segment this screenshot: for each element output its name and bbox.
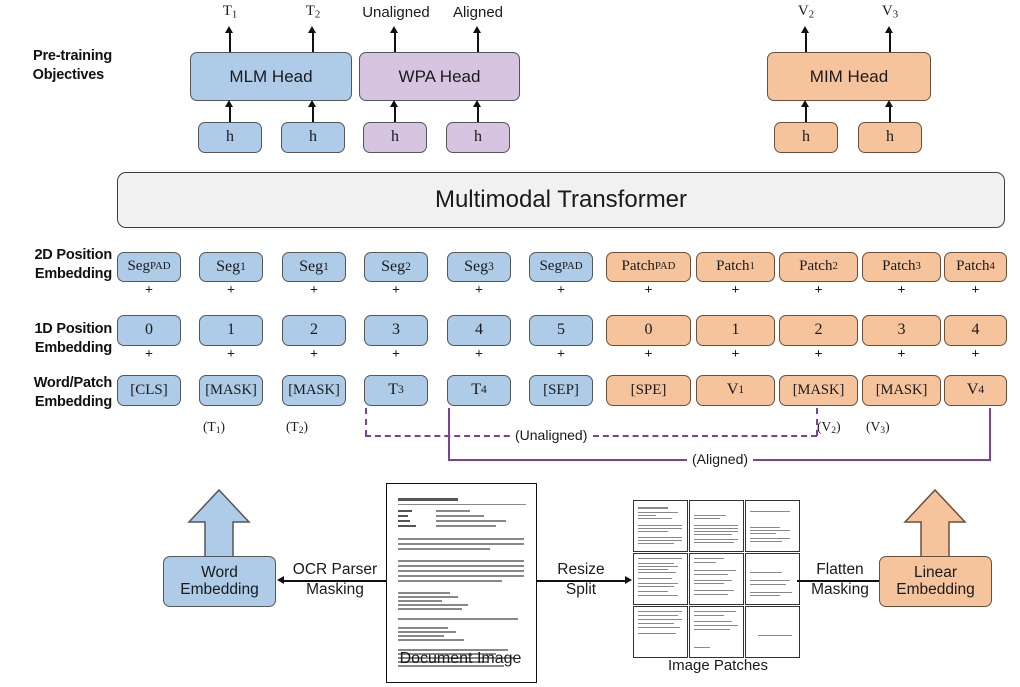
masked-target-t2: (T2): [255, 419, 339, 436]
patch-text-line: [638, 512, 678, 513]
multimodal-transformer-box[interactable]: Multimodal Transformer: [117, 172, 1005, 228]
embedding-cell-pos2d-7[interactable]: Patch1: [696, 252, 775, 282]
embedding-cell-pos1d-5[interactable]: 5: [529, 315, 593, 346]
embedding-cell-text: [CLS]: [130, 383, 168, 399]
embedding-cell-text: Seg: [216, 259, 240, 276]
mlm-head-box[interactable]: MLM Head: [190, 52, 352, 101]
unaligned-label-text: (Unaligned): [515, 427, 587, 443]
aligned-label-text: (Aligned): [692, 451, 748, 467]
patch-text-line: [750, 572, 782, 573]
embedding-cell-pos2d-9[interactable]: Patch3: [862, 252, 941, 282]
patch-text-line: [694, 518, 720, 519]
embedding-cell-subscript: 4: [978, 384, 984, 396]
ocr-line1: OCR Parser: [293, 561, 377, 578]
embedding-cell-subscript: 2: [405, 261, 411, 273]
patch-text-line: [638, 528, 682, 529]
embedding-cell-pos2d-10[interactable]: Patch4: [944, 252, 1007, 282]
patch-text-line: [750, 580, 790, 581]
patch-text-line: [638, 525, 682, 526]
patch-text-line: [694, 629, 730, 630]
patch-text-line: [638, 531, 668, 532]
ocr-line2: Masking: [306, 581, 364, 598]
embedding-cell-pos2d-0[interactable]: SegPAD: [117, 252, 181, 282]
image-patch-8[interactable]: [689, 606, 744, 658]
embedding-cell-subscript: 3: [915, 261, 920, 272]
embedding-cell-text: [MASK]: [876, 383, 928, 398]
hidden-state-label-4: h: [474, 129, 482, 146]
resize-line1: Resize: [557, 561, 604, 578]
embedding-cell-text: 4: [475, 322, 483, 339]
patch-text-line: [638, 540, 682, 541]
output-label-aligned: Aligned: [442, 4, 514, 21]
embedding-cell-subscript: 3: [398, 384, 404, 396]
embedding-cell-pos1d-6[interactable]: 0: [606, 315, 691, 346]
embedding-cell-pos2d-1[interactable]: Seg1: [199, 252, 263, 282]
label-word-patch-line2: Embedding: [0, 393, 112, 412]
output-t1-sub: 1: [232, 8, 237, 20]
document-image-caption-text: Document Image: [400, 650, 522, 667]
patch-text-line: [638, 507, 668, 509]
embedding-cell-text: [SPE]: [631, 383, 667, 399]
plus-symbol-pos2d-3: +: [364, 283, 428, 299]
output-v2-sub: 2: [809, 8, 814, 20]
embedding-cell-subscript: PAD: [150, 261, 171, 272]
patch-text-line: [638, 583, 678, 584]
embedding-cell-text: Seg: [127, 259, 150, 275]
embedding-cell-text: 1: [227, 322, 235, 339]
embedding-cell-pos2d-3[interactable]: Seg2: [364, 252, 428, 282]
image-patch-3[interactable]: [745, 500, 800, 552]
masked-target-v3-close: ): [885, 419, 890, 434]
patch-text-line: [694, 590, 734, 591]
patch-text-line: [638, 558, 682, 559]
patch-text-line: [638, 591, 668, 592]
patch-text-line: [694, 539, 738, 540]
plus-symbol-pos1d-4: +: [447, 347, 511, 363]
label-pretraining-objectives-line2: Objectives: [0, 66, 112, 85]
hidden-state-box-5[interactable]: h: [774, 122, 838, 153]
patch-text-line: [638, 611, 682, 612]
mim-head-label: MIM Head: [810, 68, 888, 86]
patch-text-line: [638, 586, 674, 587]
plus-symbol-pos2d-2: +: [282, 283, 346, 299]
patch-text-line: [694, 531, 738, 532]
output-v2-text: V: [798, 3, 809, 19]
output-label-unaligned: Unaligned: [352, 4, 440, 21]
embedding-cell-subscript: 1: [749, 261, 754, 272]
embedding-cell-wordpatch-2[interactable]: [MASK]: [282, 375, 346, 406]
plus-symbol-pos2d-0: +: [117, 283, 181, 299]
embedding-cell-pos2d-8[interactable]: Patch2: [779, 252, 858, 282]
embedding-cell-text: [MASK]: [288, 383, 340, 398]
patch-text-line: [638, 566, 678, 567]
arrowhead-head-to-v3: [885, 26, 893, 33]
label-1d-position-line1: 1D Position: [0, 320, 112, 339]
hidden-state-box-6[interactable]: h: [858, 122, 922, 153]
embedding-cell-subscript: PAD: [655, 261, 676, 272]
plus-symbol-pos2d-7: +: [696, 283, 775, 299]
plus-symbol-pos1d-6: +: [606, 347, 691, 363]
mim-head-box[interactable]: MIM Head: [767, 52, 931, 101]
word-embedding-line2: Embedding: [180, 582, 258, 598]
plus-symbol-pos2d-6: +: [606, 283, 691, 299]
arrowhead-head-to-unaligned: [390, 26, 398, 33]
label-2d-position-embedding: 2D Position Embedding: [0, 246, 112, 283]
arrowhead-head-to-aligned: [473, 26, 481, 33]
patch-text-line: [638, 572, 676, 573]
output-label-t1: T1: [196, 3, 264, 20]
patch-text-line: [750, 595, 780, 596]
image-patch-4[interactable]: [633, 553, 688, 605]
patch-text-line: [750, 541, 782, 542]
embedding-cell-pos1d-9[interactable]: 3: [862, 315, 941, 346]
plus-symbol-pos1d-3: +: [364, 347, 428, 363]
patch-text-line: [694, 515, 726, 516]
hidden-state-box-1[interactable]: h: [198, 122, 262, 153]
patch-text-line: [694, 570, 736, 571]
patch-text-line: [694, 528, 738, 529]
image-patch-7[interactable]: [633, 606, 688, 658]
patch-text-line: [694, 615, 724, 616]
output-label-v2: V2: [772, 3, 840, 20]
hidden-state-label-2: h: [309, 129, 317, 146]
output-t2-sub: 2: [315, 8, 320, 20]
embedding-cell-pos1d-1[interactable]: 1: [199, 315, 263, 346]
embedding-cell-text: Patch: [799, 259, 832, 275]
embedding-cell-pos2d-6[interactable]: PatchPAD: [606, 252, 691, 282]
plus-symbol-pos1d-0: +: [117, 347, 181, 363]
output-unaligned-text: Unaligned: [362, 4, 430, 21]
embedding-cell-text: Seg: [299, 259, 323, 276]
plus-symbol-pos2d-10: +: [944, 283, 1007, 299]
patch-text-line: [638, 615, 678, 616]
hidden-state-box-4[interactable]: h: [446, 122, 510, 153]
document-image-caption: Document Image: [386, 650, 535, 668]
embedding-cell-text: 3: [392, 322, 400, 339]
label-2d-position-line2: Embedding: [0, 265, 112, 284]
plus-symbol-pos2d-1: +: [199, 283, 263, 299]
embedding-cell-wordpatch-7[interactable]: V1: [696, 375, 775, 406]
embedding-cell-subscript: 1: [240, 261, 246, 273]
flatten-masking-label: Flatten Masking: [796, 560, 884, 600]
embedding-cell-text: 5: [557, 322, 565, 339]
linear-embedding-box[interactable]: Linear Embedding: [879, 556, 992, 607]
label-1d-position-line2: Embedding: [0, 339, 112, 358]
embedding-cell-subscript: 2: [832, 261, 837, 272]
output-label-v3: V3: [856, 3, 924, 20]
patch-text-line: [694, 534, 732, 535]
embedding-cell-text: T: [388, 382, 398, 399]
flatten-line1: Flatten: [816, 561, 863, 578]
aligned-connector-right-vertical: [989, 408, 991, 460]
unaligned-connector-right-vertical: [816, 408, 818, 436]
arrowhead-h2-to-mlm: [308, 100, 316, 107]
patch-text-line: [694, 647, 710, 648]
embedding-cell-subscript: 3: [488, 261, 494, 273]
masked-target-t1-close: ): [221, 419, 226, 434]
embedding-cell-subscript: 4: [989, 261, 994, 272]
embedding-cell-text: Patch: [716, 259, 749, 275]
patch-text-line: [750, 530, 790, 531]
plus-symbol-pos2d-4: +: [447, 283, 511, 299]
masked-target-t1: (T1): [172, 419, 256, 436]
embedding-cell-wordpatch-8[interactable]: [MASK]: [779, 375, 858, 406]
linear-embedding-line1: Linear: [914, 565, 957, 581]
embedding-cell-text: [MASK]: [205, 383, 257, 398]
patch-text-line: [694, 594, 728, 595]
patch-text-line: [638, 543, 674, 544]
patch-text-line: [694, 580, 732, 581]
patch-text-line: [758, 635, 792, 636]
masked-target-v3-text: (V: [866, 419, 880, 434]
embedding-cell-text: 1: [732, 322, 740, 339]
image-patch-6[interactable]: [745, 553, 800, 605]
embedding-cell-pos2d-2[interactable]: Seg1: [282, 252, 346, 282]
embedding-cell-text: Patch: [622, 259, 655, 275]
patch-text-line: [694, 525, 738, 526]
image-patch-5[interactable]: [689, 553, 744, 605]
embedding-cell-wordpatch-0[interactable]: [CLS]: [117, 375, 181, 406]
plus-symbol-pos1d-7: +: [696, 347, 775, 363]
patch-text-line: [750, 511, 790, 512]
patch-text-line: [638, 537, 682, 538]
embedding-cell-wordpatch-3[interactable]: T3: [364, 375, 428, 406]
embedding-cell-pos2d-5[interactable]: SegPAD: [529, 252, 593, 282]
embedding-cell-text: 4: [972, 322, 980, 339]
embedding-cell-pos1d-0[interactable]: 0: [117, 315, 181, 346]
plus-symbol-pos1d-5: +: [529, 347, 593, 363]
patch-text-line: [638, 633, 676, 634]
embedding-cell-text: V: [967, 382, 979, 399]
output-v3-sub: 3: [893, 8, 898, 20]
embedding-cell-pos1d-7[interactable]: 1: [696, 315, 775, 346]
embedding-cell-text: Seg: [539, 259, 562, 275]
patch-text-line: [638, 595, 678, 596]
embedding-cell-subscript: PAD: [562, 261, 583, 272]
output-t2-text: T: [306, 3, 315, 19]
arrowhead-head-to-t1: [225, 26, 233, 33]
wpa-head-box[interactable]: WPA Head: [359, 52, 520, 101]
embedding-cell-text: [SEP]: [543, 383, 579, 399]
plus-symbol-pos1d-2: +: [282, 347, 346, 363]
arrowhead-h5-to-mim: [801, 100, 809, 107]
hidden-state-label-5: h: [802, 129, 810, 146]
patch-text-line: [694, 611, 736, 612]
embedding-cell-text: [MASK]: [793, 383, 845, 398]
label-word-patch-embedding: Word/Patch Embedding: [0, 374, 112, 411]
arrowhead-h4-to-wpa: [473, 100, 481, 107]
patch-text-line: [750, 584, 786, 585]
unaligned-connector-left-vertical: [365, 408, 367, 436]
word-embedding-box[interactable]: Word Embedding: [163, 556, 276, 607]
masked-target-t1-text: (T: [203, 419, 216, 434]
patch-text-line: [694, 625, 738, 626]
embedding-cell-text: V: [727, 382, 739, 399]
patch-text-line: [638, 623, 674, 624]
embedding-cell-subscript: 4: [481, 384, 487, 396]
arrowhead-h3-to-wpa: [390, 100, 398, 107]
hidden-state-label-1: h: [226, 129, 234, 146]
embedding-cell-wordpatch-4[interactable]: T4: [447, 375, 511, 406]
embedding-cell-text: 3: [898, 322, 906, 339]
masked-target-v2-close: ): [836, 419, 841, 434]
plus-symbol-pos2d-9: +: [862, 283, 941, 299]
embedding-cell-text: Seg: [464, 259, 488, 276]
patch-text-line: [750, 592, 792, 593]
embedding-cell-wordpatch-5[interactable]: [SEP]: [529, 375, 593, 406]
wpa-head-label: WPA Head: [399, 68, 481, 86]
hidden-state-box-2[interactable]: h: [281, 122, 345, 153]
resize-line2: Split: [566, 581, 596, 598]
patch-text-line: [694, 583, 724, 584]
hidden-state-label-6: h: [886, 129, 894, 146]
output-t1-text: T: [223, 3, 232, 19]
plus-symbol-pos1d-10: +: [944, 347, 1007, 363]
patch-text-line: [750, 527, 780, 528]
patch-text-line: [638, 619, 682, 620]
embedding-cell-text: 0: [645, 322, 653, 339]
mlm-head-label: MLM Head: [229, 68, 312, 86]
label-word-patch-line1: Word/Patch: [0, 374, 112, 393]
arrowhead-head-to-t2: [308, 26, 316, 33]
patch-text-line: [750, 533, 776, 534]
embedding-cell-text: 0: [145, 322, 153, 339]
embedding-cell-pos1d-10[interactable]: 4: [944, 315, 1007, 346]
embedding-cell-wordpatch-10[interactable]: V4: [944, 375, 1007, 406]
image-patch-1[interactable]: [633, 500, 688, 552]
embedding-cell-wordpatch-1[interactable]: [MASK]: [199, 375, 263, 406]
patch-text-line: [638, 515, 656, 516]
patch-text-line: [638, 578, 672, 579]
label-pretraining-objectives-line1: Pre-training: [0, 47, 112, 66]
image-patch-9[interactable]: [745, 606, 800, 658]
embedding-cell-pos1d-8[interactable]: 2: [779, 315, 858, 346]
embedding-cell-text: Patch: [882, 259, 915, 275]
embedding-cell-subscript: 1: [738, 384, 744, 396]
image-patches-caption: Image Patches: [633, 657, 803, 674]
patch-text-line: [694, 621, 732, 622]
embedding-cell-text: 2: [815, 322, 823, 339]
word-embedding-up-arrow: [186, 488, 252, 562]
patch-text-line: [638, 627, 680, 628]
embedding-cell-pos2d-4[interactable]: Seg3: [447, 252, 511, 282]
embedding-cell-wordpatch-9[interactable]: [MASK]: [862, 375, 941, 406]
multimodal-transformer-label: Multimodal Transformer: [435, 187, 687, 212]
arrowhead-head-to-v2: [801, 26, 809, 33]
patch-text-line: [638, 518, 672, 519]
embedding-cell-text: Seg: [381, 259, 405, 276]
patch-text-line: [694, 562, 716, 563]
flatten-line2: Masking: [811, 581, 869, 598]
masked-target-v3: (V3): [866, 419, 926, 436]
hidden-state-label-3: h: [391, 129, 399, 146]
embedding-cell-pos1d-3[interactable]: 3: [364, 315, 428, 346]
plus-symbol-pos1d-8: +: [779, 347, 858, 363]
masked-target-t2-text: (T: [286, 419, 299, 434]
patch-text-line: [694, 542, 734, 543]
image-patches-caption-text: Image Patches: [668, 657, 768, 674]
output-label-t2: T2: [279, 3, 347, 20]
arrowhead-h1-to-mlm: [225, 100, 233, 107]
output-v3-text: V: [882, 3, 893, 19]
unaligned-connector-label: (Unaligned): [510, 427, 592, 443]
resize-split-label: Resize Split: [535, 560, 627, 600]
label-2d-position-line1: 2D Position: [0, 246, 112, 265]
hidden-state-box-3[interactable]: h: [363, 122, 427, 153]
plus-symbol-pos2d-8: +: [779, 283, 858, 299]
plus-symbol-pos2d-5: +: [529, 283, 593, 299]
label-1d-position-embedding: 1D Position Embedding: [0, 320, 112, 357]
linear-embedding-line2: Embedding: [896, 582, 974, 598]
masked-target-v2-text: (V: [817, 419, 831, 434]
embedding-cell-text: 2: [310, 322, 318, 339]
ocr-parser-masking-label: OCR Parser Masking: [281, 560, 389, 600]
plus-symbol-pos1d-1: +: [199, 347, 263, 363]
aligned-connector-label: (Aligned): [687, 451, 753, 467]
patch-text-line: [638, 569, 668, 570]
embedding-cell-wordpatch-6[interactable]: [SPE]: [606, 375, 691, 406]
image-patch-2[interactable]: [689, 500, 744, 552]
patch-text-line: [694, 558, 724, 559]
output-aligned-text: Aligned: [453, 4, 503, 21]
aligned-connector-left-vertical: [448, 408, 450, 460]
embedding-cell-subscript: 1: [323, 261, 329, 273]
embedding-cell-text: Patch: [956, 259, 989, 275]
arrowhead-h6-to-mim: [885, 100, 893, 107]
label-pretraining-objectives: Pre-training Objectives: [0, 47, 112, 84]
patch-text-line: [694, 574, 728, 575]
plus-symbol-pos1d-9: +: [862, 347, 941, 363]
patch-text-line: [750, 538, 790, 539]
patch-text-line: [638, 563, 674, 564]
embedding-cell-text: T: [471, 382, 481, 399]
masked-target-t2-close: ): [304, 419, 309, 434]
word-embedding-line1: Word: [201, 565, 238, 581]
embedding-cell-pos1d-4[interactable]: 4: [447, 315, 511, 346]
linear-embedding-up-arrow: [902, 488, 968, 562]
embedding-cell-pos1d-2[interactable]: 2: [282, 315, 346, 346]
